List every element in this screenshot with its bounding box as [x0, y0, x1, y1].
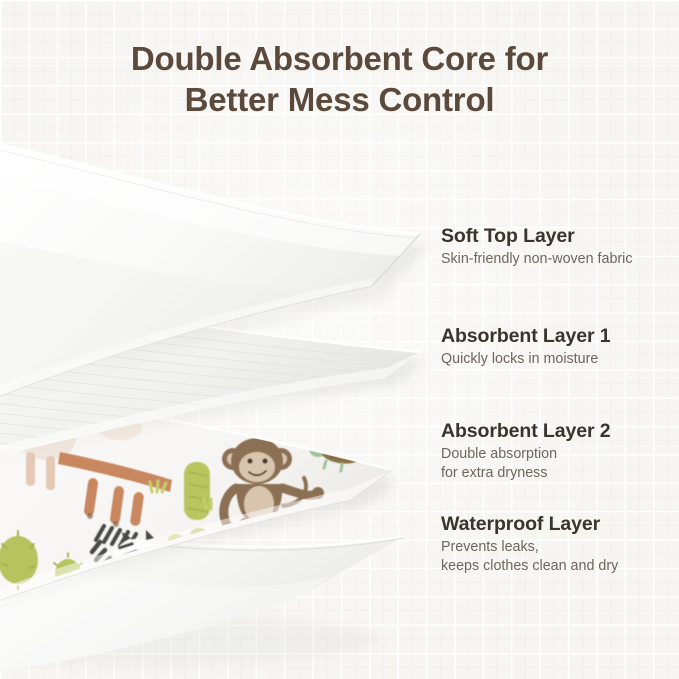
callout-description: Quickly locks in moisture [441, 350, 679, 369]
callout-desc-line: keeps clothes clean and dry [441, 557, 679, 576]
callout-description: Double absorption for extra dryness [441, 445, 679, 482]
callout-title: Waterproof Layer [441, 512, 679, 536]
callout-title: Absorbent Layer 2 [441, 419, 679, 443]
callout-desc-line: Skin-friendly non-woven fabric [441, 250, 679, 269]
callout-desc-line: Prevents leaks, [441, 538, 679, 557]
callout-description: Skin-friendly non-woven fabric [441, 250, 679, 269]
callout-desc-line: Double absorption [441, 445, 679, 464]
palm-tree-motif [352, 412, 388, 443]
callout-title: Soft Top Layer [441, 224, 679, 248]
callout-desc-line: Quickly locks in moisture [441, 350, 679, 369]
callout-absorbent-layer-1: Absorbent Layer 1 Quickly locks in moist… [441, 324, 679, 369]
cactus-motif-tall [184, 462, 210, 520]
layer-callout-labels: Soft Top Layer Skin-friendly non-woven f… [441, 0, 679, 679]
callout-description: Prevents leaks, keeps clothes clean and … [441, 538, 679, 575]
callout-desc-line: for extra dryness [441, 464, 679, 483]
infographic-canvas: Double Absorbent Core for Better Mess Co… [0, 0, 679, 679]
callout-soft-top-layer: Soft Top Layer Skin-friendly non-woven f… [441, 224, 679, 269]
callout-absorbent-layer-2: Absorbent Layer 2 Double absorption for … [441, 419, 679, 482]
callout-waterproof-layer: Waterproof Layer Prevents leaks, keeps c… [441, 512, 679, 575]
callout-title: Absorbent Layer 1 [441, 324, 679, 348]
